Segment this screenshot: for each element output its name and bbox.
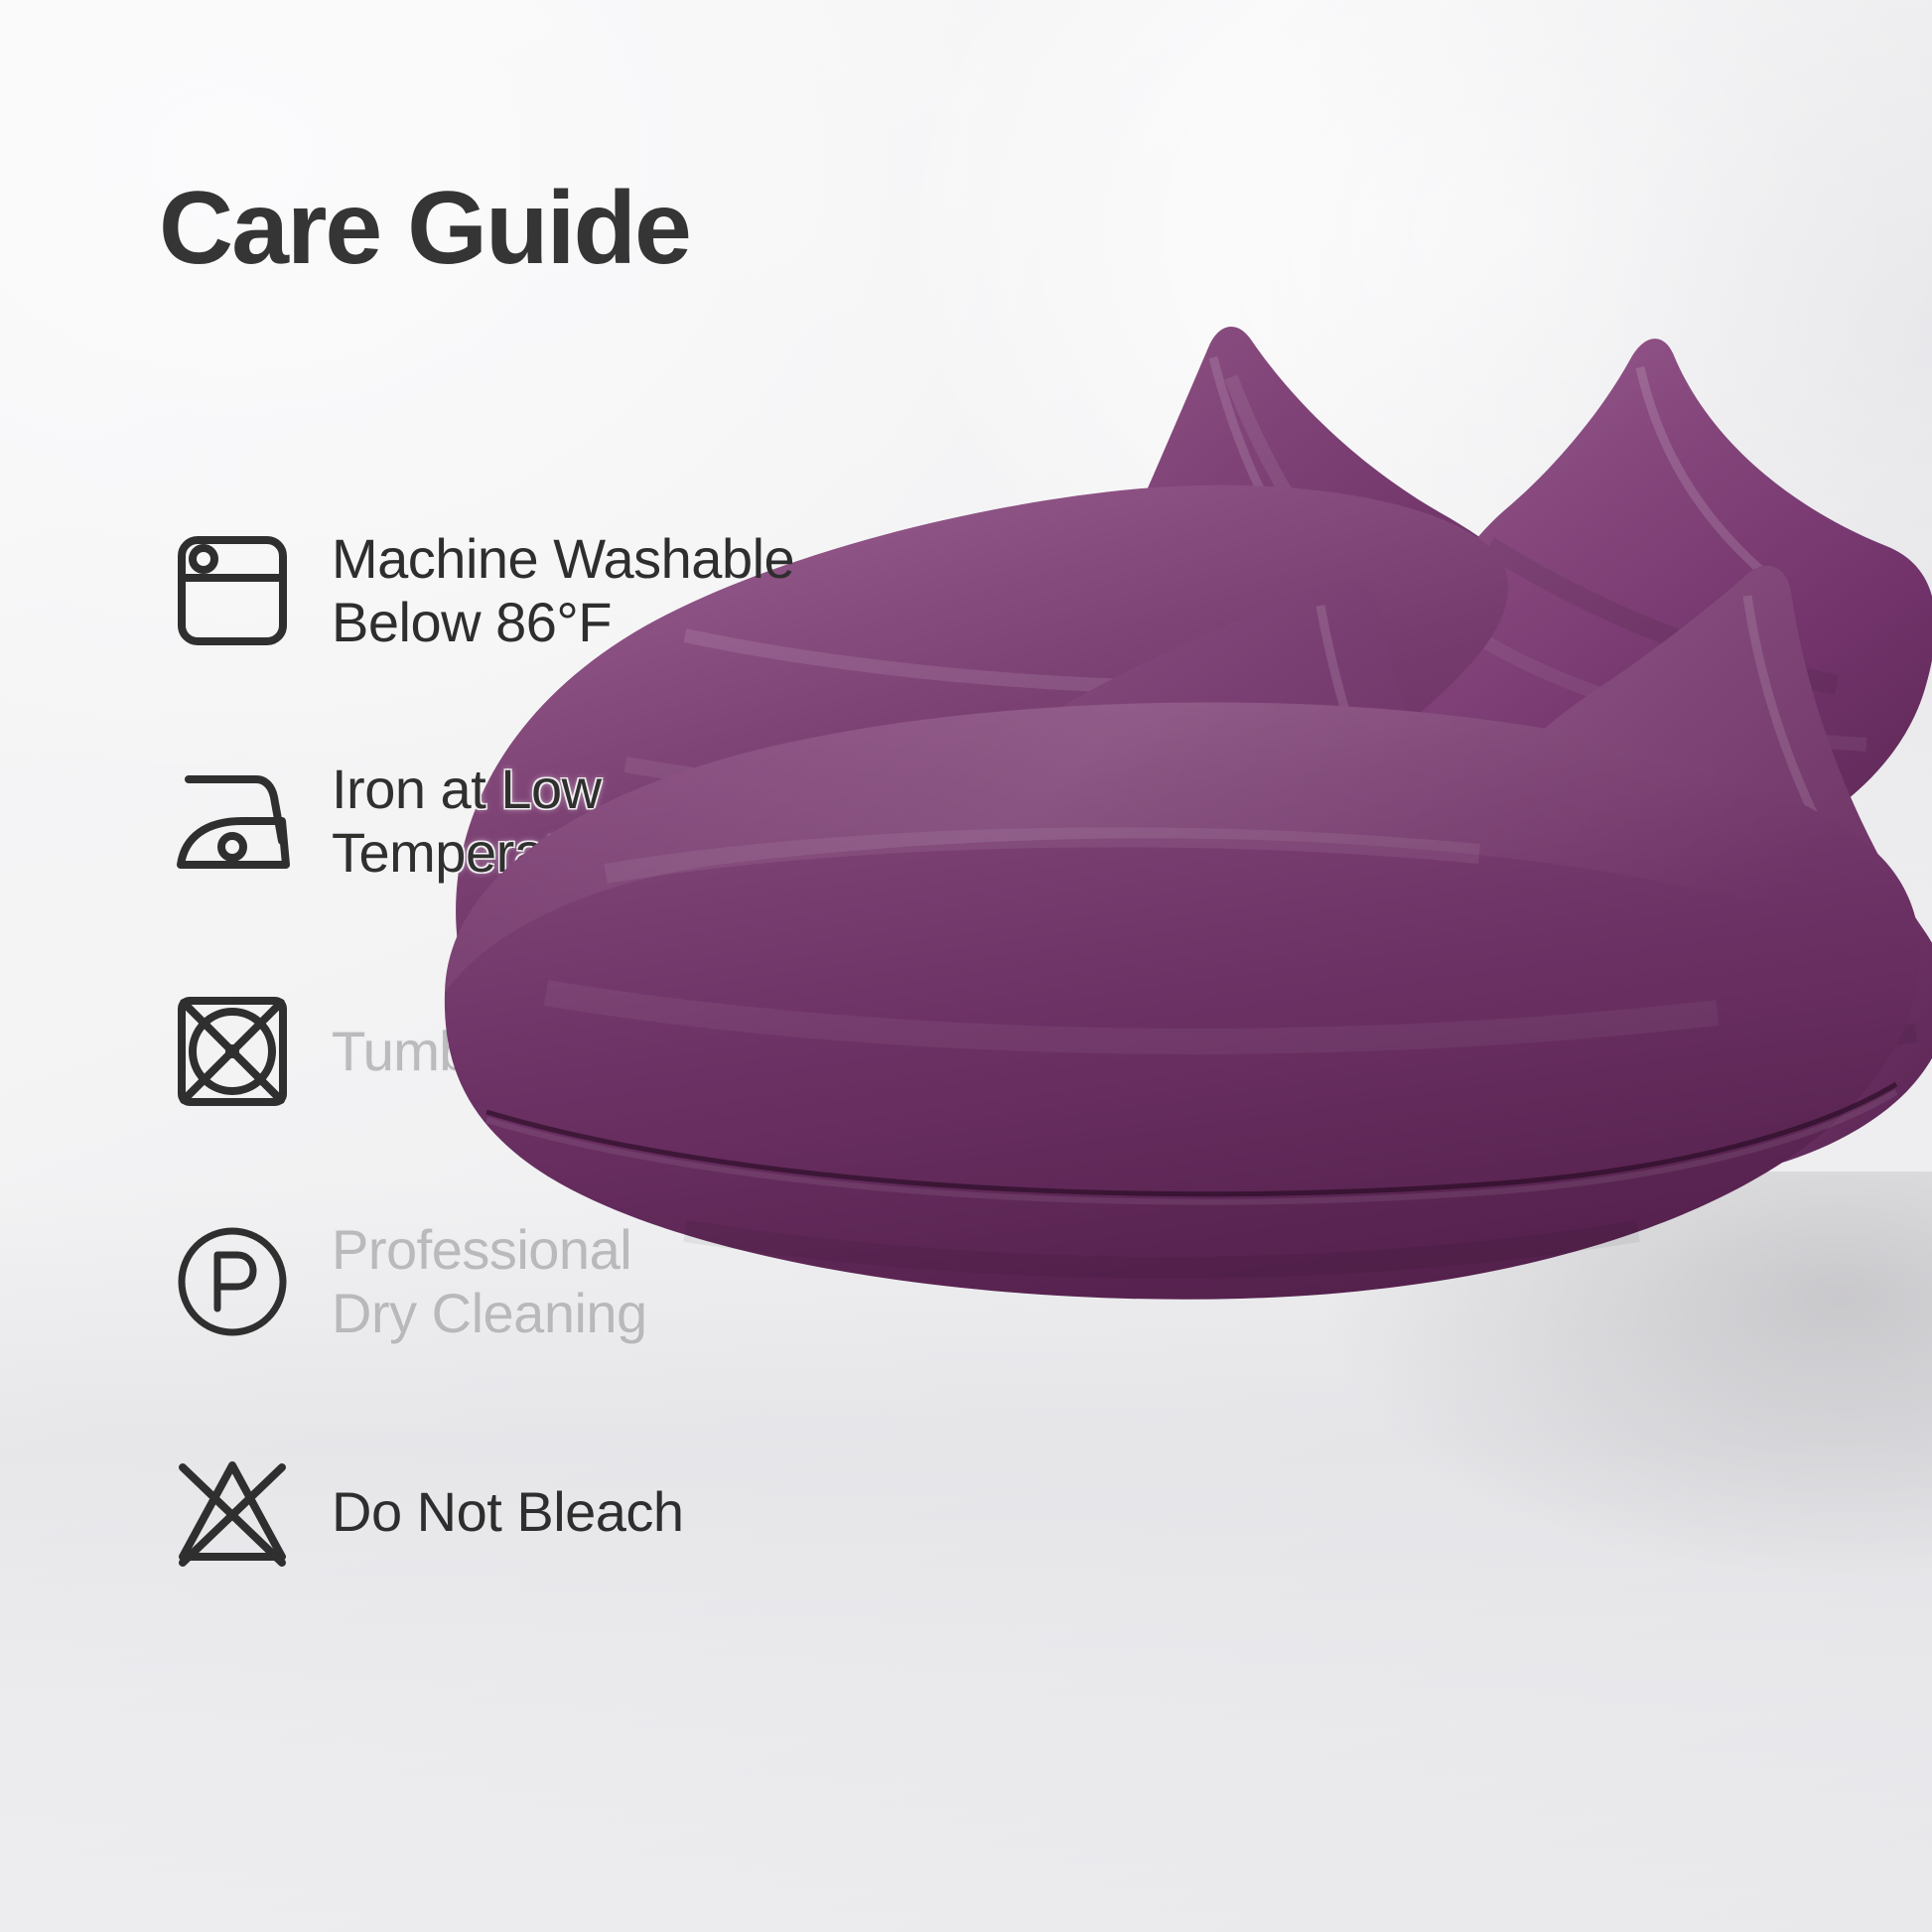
dry-clean-p-icon <box>169 1218 296 1345</box>
tumble-dry-icon <box>169 988 296 1115</box>
care-label-machine-washable: Machine Washable Below 86°F <box>332 527 794 654</box>
iron-icon <box>169 758 296 885</box>
care-row-do-not-bleach: Do Not Bleach <box>169 1438 923 1587</box>
pillow-front-large <box>427 695 1932 1311</box>
care-label-do-not-bleach: Do Not Bleach <box>332 1480 684 1544</box>
care-guide-infographic: Care Guide Machine Washable Below 86°F <box>0 0 1932 1932</box>
care-row-machine-washable: Machine Washable Below 86°F <box>169 516 923 665</box>
page-title: Care Guide <box>159 175 690 283</box>
do-not-bleach-icon <box>169 1449 296 1576</box>
washing-machine-icon <box>169 527 296 654</box>
